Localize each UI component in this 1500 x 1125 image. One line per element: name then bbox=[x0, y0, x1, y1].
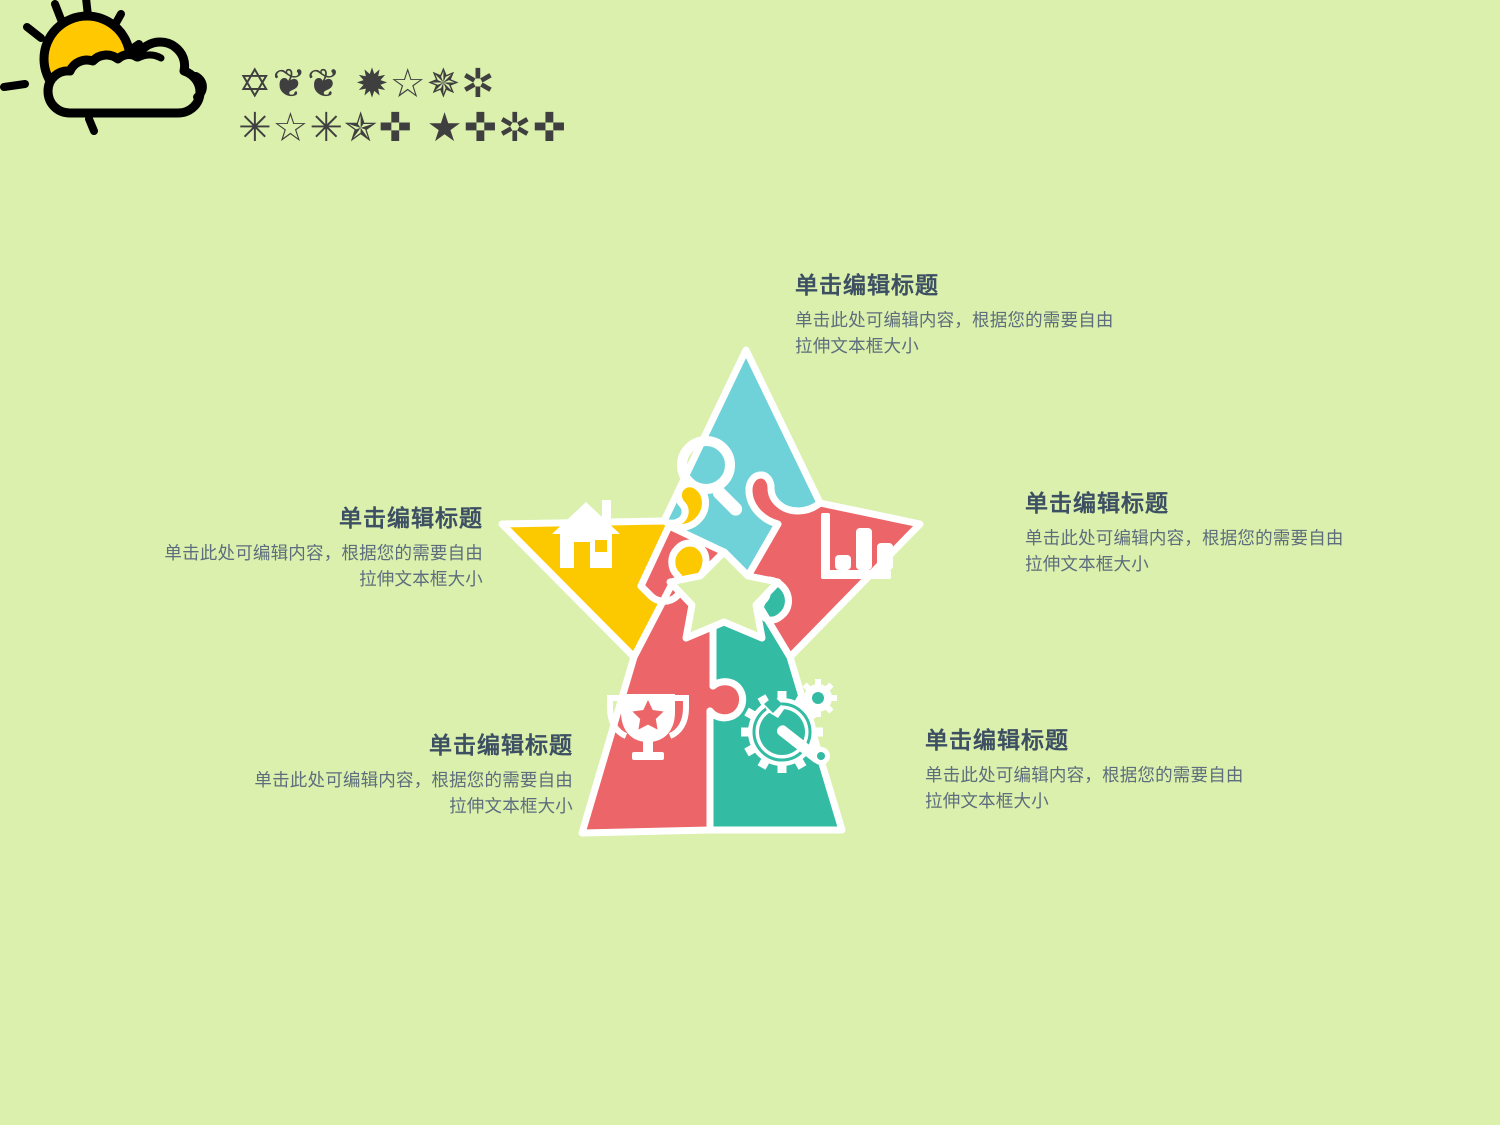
block-title: 单击编辑标题 bbox=[795, 270, 1125, 300]
text-block-right: 单击编辑标题 单击此处可编辑内容，根据您的需要自由拉伸文本框大小 bbox=[1025, 488, 1355, 577]
cloud-inner-line-icon bbox=[138, 55, 161, 58]
block-title: 单击编辑标题 bbox=[1025, 488, 1355, 518]
sun-ray-icon bbox=[4, 84, 25, 87]
slide-canvas: ✡❦❦ ✹☆✵✲ ✳☆✳✯✜ ★✜✲✜ .pc { stroke:#ffffff… bbox=[0, 0, 1500, 1125]
sun-ray-icon bbox=[86, 0, 88, 16]
block-title: 单击编辑标题 bbox=[243, 730, 573, 760]
decorative-symbol-title: ✡❦❦ ✹☆✵✲ ✳☆✳✯✜ ★✜✲✜ bbox=[238, 62, 658, 150]
sun-ray-icon bbox=[127, 97, 136, 110]
sun-ray-icon bbox=[124, 44, 139, 54]
text-block-top: 单击编辑标题 单击此处可编辑内容，根据您的需要自由拉伸文本框大小 bbox=[795, 270, 1125, 359]
block-title: 单击编辑标题 bbox=[925, 725, 1255, 755]
cloud-curl-icon bbox=[196, 76, 203, 97]
cloud-shape-icon bbox=[48, 42, 200, 113]
text-block-bottom-right: 单击编辑标题 单击此处可编辑内容，根据您的需要自由拉伸文本框大小 bbox=[925, 725, 1255, 814]
sun-ray-icon bbox=[89, 119, 94, 131]
text-block-bottom-left: 单击编辑标题 单击此处可编辑内容，根据您的需要自由拉伸文本框大小 bbox=[243, 730, 573, 819]
sun-ray-icon bbox=[112, 14, 121, 30]
block-body: 单击此处可编辑内容，根据您的需要自由拉伸文本框大小 bbox=[153, 540, 483, 592]
house-icon bbox=[552, 500, 620, 568]
block-body: 单击此处可编辑内容，根据您的需要自由拉伸文本框大小 bbox=[925, 762, 1255, 814]
sun-and-cloud-doodle bbox=[0, 0, 250, 176]
sun-ray-icon bbox=[27, 27, 41, 38]
block-body: 单击此处可编辑内容，根据您的需要自由拉伸文本框大小 bbox=[1025, 525, 1355, 577]
sun-ray-icon bbox=[55, 4, 62, 22]
text-block-left: 单击编辑标题 单击此处可编辑内容，根据您的需要自由拉伸文本框大小 bbox=[153, 503, 483, 592]
block-body: 单击此处可编辑内容，根据您的需要自由拉伸文本框大小 bbox=[243, 767, 573, 819]
sun-disc-icon bbox=[44, 16, 130, 102]
block-body: 单击此处可编辑内容，根据您的需要自由拉伸文本框大小 bbox=[795, 307, 1125, 359]
block-title: 单击编辑标题 bbox=[153, 503, 483, 533]
